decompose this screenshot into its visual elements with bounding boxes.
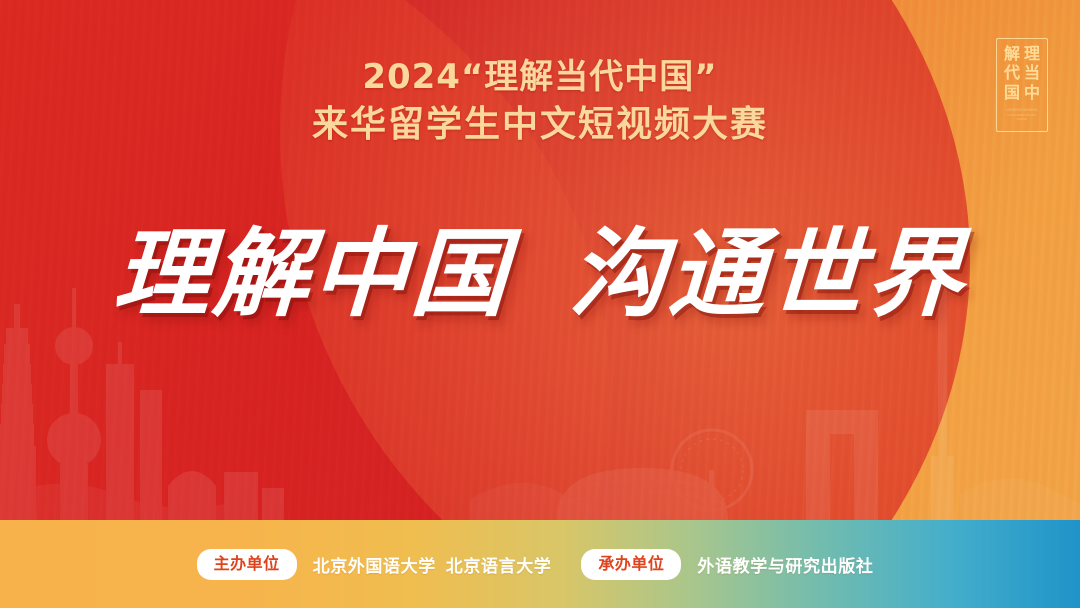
host-organizations: 北京外国语大学北京语言大学 (313, 552, 552, 577)
poster-canvas: 理 解 当 代 中 国 UNDERSTANDING CONTEMPORARY C… (0, 0, 1080, 608)
kicker-block: 2024“理解当代中国” 来华留学生中文短视频大赛 (0, 56, 1080, 148)
hero-slogan-left: 理解中国 (111, 218, 513, 330)
organizer-label-pill: 承办单位 (581, 549, 681, 580)
hero-slogan: 理解中国 沟通世界 (0, 218, 1080, 330)
footer-bar: 主办单位 北京外国语大学北京语言大学 承办单位 外语教学与研究出版社 (0, 520, 1080, 608)
kicker-line-2: 来华留学生中文短视频大赛 (0, 102, 1080, 148)
host-org-2: 北京语言大学 (446, 557, 552, 577)
organizer-organization: 外语教学与研究出版社 (697, 552, 873, 577)
hero-slogan-right: 沟通世界 (568, 218, 970, 330)
host-org-1: 北京外国语大学 (313, 557, 436, 577)
kicker-line-1: 2024“理解当代中国” (0, 56, 1080, 98)
host-label-pill: 主办单位 (197, 549, 297, 580)
